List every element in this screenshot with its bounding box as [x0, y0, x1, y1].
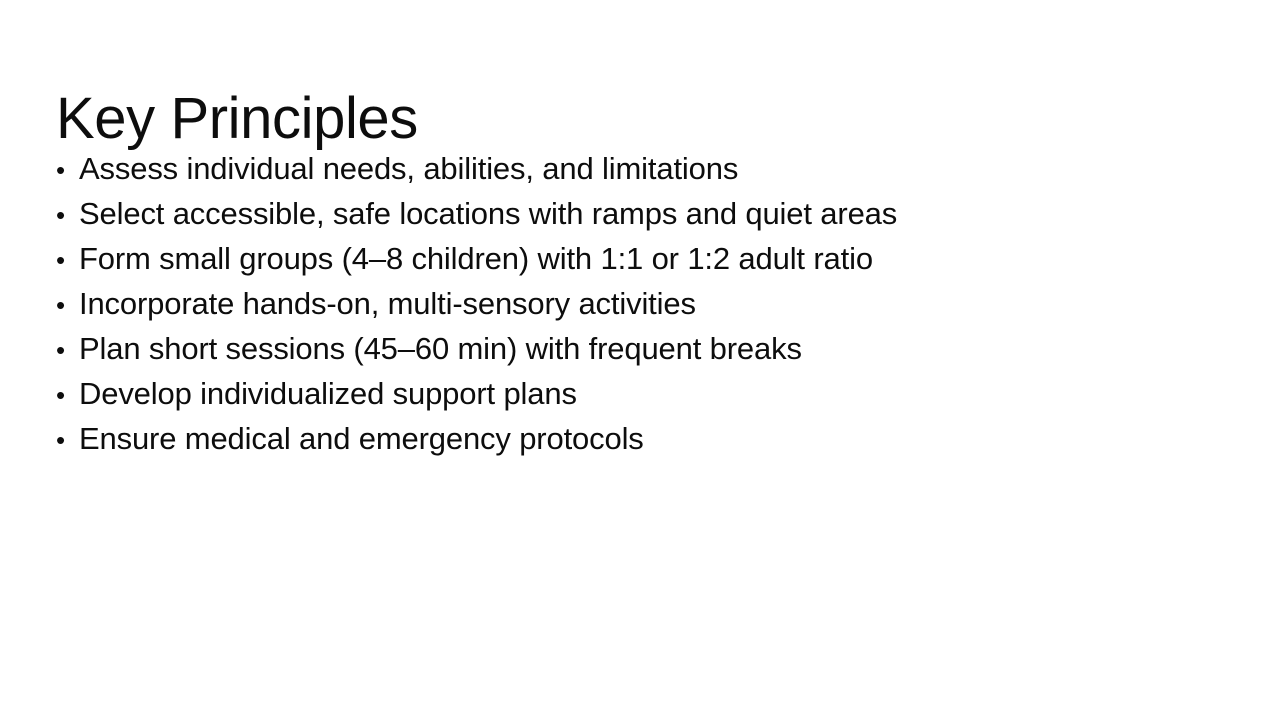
list-item-label: Assess individual needs, abilities, and … [79, 146, 738, 191]
list-item-label: Form small groups (4–8 children) with 1:… [79, 236, 873, 281]
list-item-label: Develop individualized support plans [79, 371, 577, 416]
list-item: • Form small groups (4–8 children) with … [56, 236, 1216, 281]
bullet-point-icon: • [56, 148, 79, 193]
list-item: • Develop individualized support plans [56, 371, 1216, 416]
list-item-label: Incorporate hands-on, multi-sensory acti… [79, 281, 696, 326]
list-item-label: Plan short sessions (45–60 min) with fre… [79, 326, 802, 371]
bullet-point-icon: • [56, 193, 79, 238]
bullet-point-icon: • [56, 418, 79, 463]
list-item-label: Select accessible, safe locations with r… [79, 191, 897, 236]
list-item: • Plan short sessions (45–60 min) with f… [56, 326, 1216, 371]
list-item: • Assess individual needs, abilities, an… [56, 146, 1216, 191]
bullet-point-icon: • [56, 283, 79, 328]
bullet-point-icon: • [56, 238, 79, 283]
list-item: • Ensure medical and emergency protocols [56, 416, 1216, 461]
list-item: • Incorporate hands-on, multi-sensory ac… [56, 281, 1216, 326]
bullet-point-icon: • [56, 373, 79, 418]
key-principles-list: • Assess individual needs, abilities, an… [56, 146, 1216, 461]
presentation-slide: Key Principles • Assess individual needs… [0, 0, 1280, 720]
list-item-label: Ensure medical and emergency protocols [79, 416, 644, 461]
bullet-point-icon: • [56, 328, 79, 373]
list-item: • Select accessible, safe locations with… [56, 191, 1216, 236]
page-title: Key Principles [56, 87, 418, 152]
